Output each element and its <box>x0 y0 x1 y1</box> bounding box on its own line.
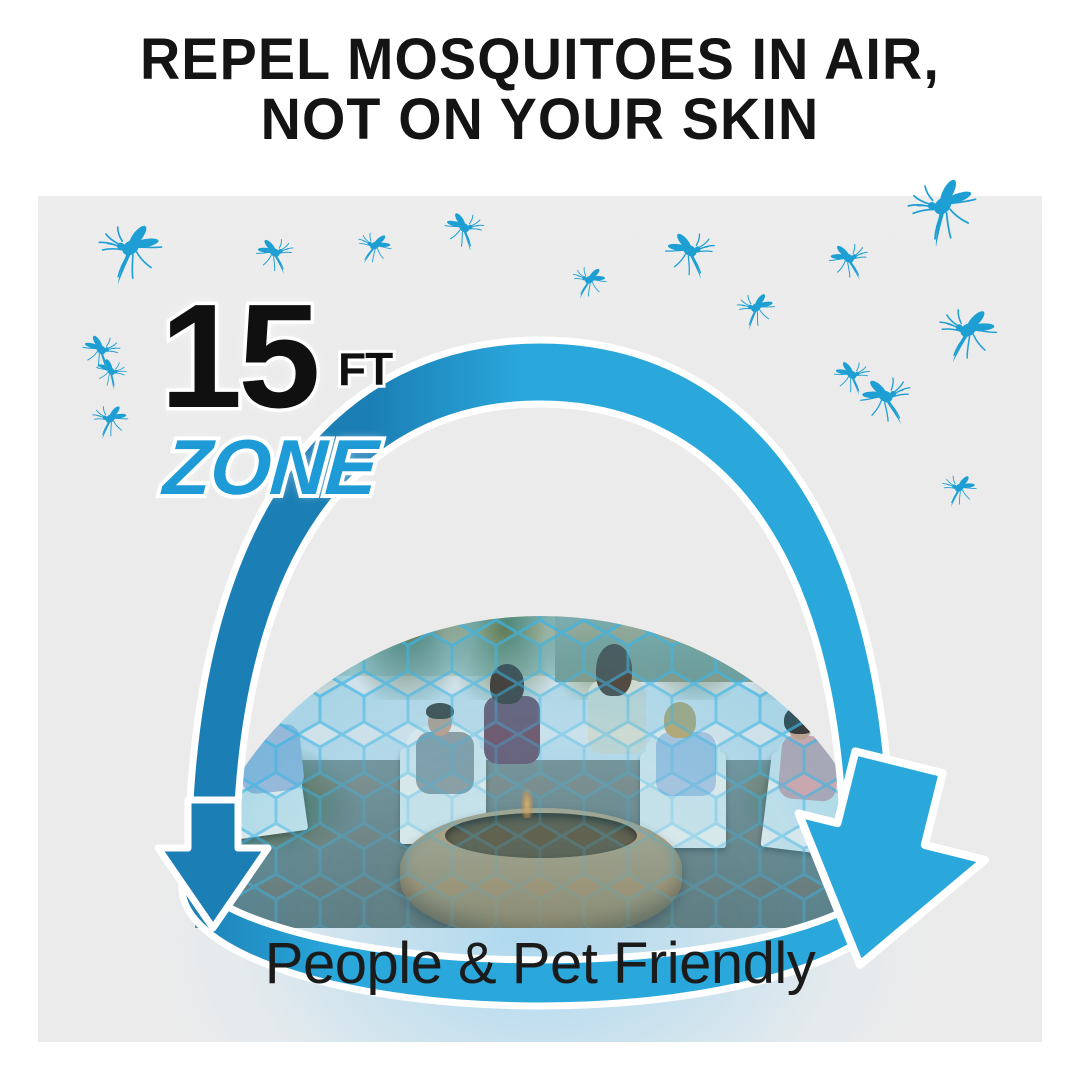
coverage-distance: 15 <box>160 290 317 423</box>
mosquito-5-icon <box>567 259 613 305</box>
coverage-zone-label: ZONE <box>161 422 380 513</box>
coverage-unit: FT <box>338 342 392 396</box>
mosquito-12-icon <box>851 366 919 434</box>
headline-line-1: REPEL MOSQUITOES IN AIR, <box>140 27 940 92</box>
promo-graphic: REPEL MOSQUITOES IN AIR, NOT ON YOUR SKI… <box>0 0 1080 1080</box>
mosquito-11-icon <box>929 294 1010 375</box>
caption: People & Pet Friendly <box>0 930 1080 997</box>
coverage-badge: 15 FT ZONE <box>160 290 440 505</box>
headline-line-2: NOT ON YOUR SKIN <box>22 90 1059 150</box>
mosquito-8-icon <box>821 234 874 287</box>
page-title: REPEL MOSQUITOES IN AIR, NOT ON YOUR SKI… <box>22 30 1059 151</box>
left-down-arrow <box>158 800 268 928</box>
mosquito-3-icon <box>353 226 397 270</box>
